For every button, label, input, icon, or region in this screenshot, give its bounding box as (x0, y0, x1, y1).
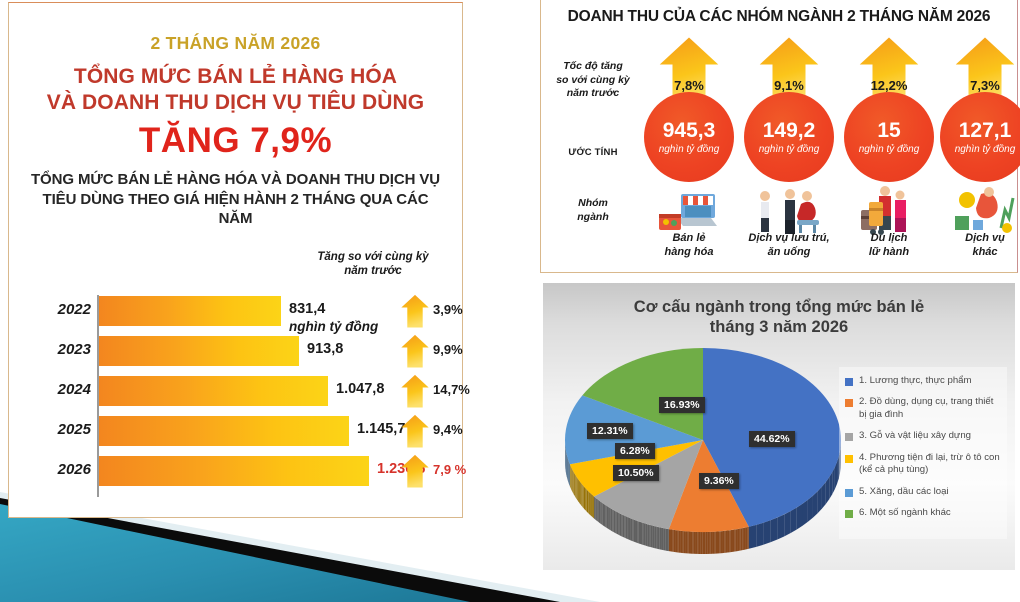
pie-slice-depth (690, 532, 692, 554)
pie-slice-depth (791, 508, 797, 534)
main-heading-line2: VÀ DOANH THU DỊCH VỤ TIÊU DÙNG (25, 90, 446, 116)
pie-slice-depth (818, 487, 822, 514)
group-value-unit: nghìn tỷ đồng (759, 144, 820, 155)
group-name-line2: hàng hóa (635, 246, 743, 260)
group-value: 127,1 (959, 120, 1012, 141)
pie-chart-graphic: 44.62%9.36%10.50%6.28%12.31%16.93% (553, 345, 853, 560)
pie-slice-depth (803, 500, 808, 526)
growth-column-note-line1: Tăng so với cùng kỳ (308, 250, 438, 264)
pie-slice-depth (707, 532, 709, 554)
pie-slice-depth (682, 531, 684, 553)
up-arrow-icon (401, 414, 429, 448)
up-arrow-icon (401, 374, 429, 408)
pie-slice-depth (607, 506, 608, 529)
row-label-growth-line2: so với cùng kỳ (547, 74, 639, 88)
pie-slice-depth (706, 532, 708, 554)
pie-data-label: 12.31% (587, 423, 633, 439)
pie-slice-depth (587, 490, 588, 513)
legend-label: 1. Lương thực, thực phẩm (859, 375, 972, 387)
growth-up-arrow-icon (401, 374, 429, 408)
bar-value-label: 913,8 (307, 341, 343, 357)
horizontal-bar-chart: 2022831,4nghìn tỷ đồng3,9%2023913,89,9%2… (29, 293, 449, 508)
row-label-group-line2: ngành (547, 211, 639, 225)
headline-growth-stat: TĂNG 7,9% (25, 123, 446, 158)
pie-slice-depth (584, 486, 585, 509)
chart-subtitle: TỔNG MỨC BÁN LẺ HÀNG HÓA VÀ DOANH THU DỊ… (25, 170, 446, 229)
growth-column-note-line2: năm trước (308, 264, 438, 278)
pie-slice-depth (660, 527, 662, 549)
legend-item[interactable]: 1. Lương thực, thực phẩm (845, 375, 1001, 387)
group-value: 945,3 (663, 120, 716, 141)
group-value-unit: nghìn tỷ đồng (659, 144, 720, 155)
bar-chart-row: 20251.145,79,4% (29, 413, 449, 453)
pie-slice-depth (629, 518, 631, 541)
pie-data-label: 9.36% (699, 473, 739, 489)
legend-color-swatch (845, 510, 853, 518)
group-illustration (855, 184, 923, 238)
pie-slice-depth (592, 495, 593, 518)
pie-slice-depth (663, 528, 665, 550)
group-illustration (951, 184, 1019, 238)
group-value-unit: nghìn tỷ đồng (955, 144, 1016, 155)
group-name-line1: Dịch vụ (931, 232, 1020, 246)
bar (99, 416, 349, 446)
pie-slice-depth (658, 527, 660, 549)
pie-slice-depth (583, 485, 584, 508)
group-name-line2: ăn uống (735, 246, 843, 260)
group-value-circle: 945,3nghìn tỷ đồng (644, 92, 734, 182)
pie-slice-depth (747, 527, 749, 549)
group-value: 149,2 (763, 120, 816, 141)
pie-slice-depth (581, 483, 582, 506)
group-name-line1: Bán lẻ (635, 232, 743, 246)
legend-item[interactable]: 2. Đồ dùng, dụng cụ, trang thiết bị gia … (845, 396, 1001, 421)
pie-slice-depth (637, 521, 639, 544)
pie-slice-depth (599, 500, 600, 523)
pie-slice-depth (737, 529, 739, 551)
legend-label: 5. Xăng, dầu các loại (859, 486, 949, 498)
pie-slice-depth (624, 516, 626, 539)
pie-slice-depth (586, 489, 587, 512)
main-heading: TỔNG MỨC BÁN LẺ HÀNG HÓA VÀ DOANH THU DỊ… (25, 64, 446, 115)
row-label-group-line1: Nhóm (547, 197, 639, 211)
pie-slice-depth (670, 529, 672, 551)
bar-chart-row: 2022831,4nghìn tỷ đồng3,9% (29, 293, 449, 333)
pie-slice-depth (584, 487, 585, 510)
pie-slice-depth (598, 499, 599, 522)
pie-slice-depth (582, 484, 583, 507)
pie-slice-depth (733, 530, 735, 552)
growth-percent-label: 9,9% (433, 342, 463, 357)
pie-slice-depth (623, 515, 625, 538)
pie-slice-depth (627, 517, 629, 540)
pie-slice-depth (621, 514, 623, 537)
pie-slice-depth (594, 496, 595, 519)
bar-year-label: 2025 (29, 421, 91, 438)
pie-slice-depth (699, 532, 701, 554)
growth-up-arrow-icon (401, 334, 429, 368)
group-growth-percent: 7,3% (937, 78, 1020, 93)
pie-slice-depth (591, 494, 592, 517)
legend-color-swatch (845, 399, 853, 407)
industry-revenue-panel: DOANH THU CỦA CÁC NHÓM NGÀNH 2 THÁNG NĂM… (540, 0, 1018, 273)
group-name-label: Dịch vụkhác (931, 232, 1020, 260)
pie-slice-depth (723, 531, 725, 553)
legend-label: 6. Một số ngành khác (859, 507, 951, 519)
pie-slice-depth (771, 517, 778, 542)
restaurant-dining-icon (755, 184, 823, 238)
pie-slice-depth (687, 531, 689, 553)
growth-up-arrow-icon (401, 454, 429, 488)
pie-slice-depth (679, 531, 681, 553)
main-heading-line1: TỔNG MỨC BÁN LẺ HÀNG HÓA (25, 64, 446, 90)
legend-item[interactable]: 4. Phương tiện đi lại, trừ ô tô con (kể … (845, 452, 1001, 477)
legend-item[interactable]: 3. Gỗ và vật liệu xây dựng (845, 430, 1001, 442)
pie-slice-depth (579, 480, 580, 503)
pie-slice-depth (808, 496, 813, 522)
bar (99, 456, 369, 486)
pie-chart-panel: Cơ cấu ngành trong tổng mức bán lẻ tháng… (543, 283, 1015, 570)
pie-slice-depth (620, 513, 622, 536)
pie-slice-depth (582, 484, 583, 507)
growth-up-arrow-icon (401, 414, 429, 448)
pie-slice-depth (696, 532, 698, 554)
pie-slice-depth (667, 529, 669, 551)
pie-slice-depth (716, 531, 718, 553)
bar (99, 336, 299, 366)
bar-chart-row: 20241.047,814,7% (29, 373, 449, 413)
pie-slice-depth (587, 490, 588, 513)
growth-percent-label: 7,9 % (433, 462, 466, 477)
group-name-line1: Du lịch (835, 232, 943, 246)
row-label-industry-group: Nhóm ngành (547, 197, 639, 224)
pie-slice-depth (595, 497, 596, 520)
pie-slice-depth (797, 504, 803, 530)
row-label-growth-rate: Tốc độ tăng so với cùng kỳ năm trước (547, 60, 639, 101)
row-label-growth-line3: năm trước (547, 87, 639, 101)
pie-slice-depth (635, 520, 637, 543)
pie-slice-depth (654, 526, 656, 548)
group-growth-percent: 12,2% (841, 78, 937, 93)
pie-slice-depth (729, 530, 731, 552)
pie-slice-depth (631, 518, 633, 541)
up-arrow-icon (401, 454, 429, 488)
pie-slice-depth (588, 491, 589, 514)
bar (99, 296, 281, 326)
group-name-line2: khác (931, 246, 1020, 260)
pie-slice-depth (646, 524, 648, 547)
pie-slice-depth (649, 525, 651, 547)
growth-percent-label: 9,4% (433, 422, 463, 437)
pie-slice-depth (680, 531, 682, 553)
pie-slice-depth (632, 519, 634, 542)
pie-slice-depth (569, 463, 570, 486)
pie-slice-depth (701, 532, 703, 554)
pie-slice-depth (741, 528, 743, 550)
pie-slice-depth (669, 529, 671, 551)
group-value-circle: 15nghìn tỷ đồng (844, 92, 934, 182)
pie-slice-depth (601, 502, 602, 525)
pie-slice-depth (626, 516, 628, 539)
pie-slice-depth (736, 529, 738, 551)
pie-slice-depth (618, 513, 620, 536)
pie-slice-depth (580, 481, 581, 504)
industry-panel-title: DOANH THU CỦA CÁC NHÓM NGÀNH 2 THÁNG NĂM… (541, 8, 1017, 26)
retail-store-icon (655, 184, 723, 238)
period-kicker: 2 THÁNG NĂM 2026 (25, 33, 446, 54)
pie-chart-title-line1: Cơ cấu ngành trong tổng mức bán lẻ (543, 297, 1015, 317)
pie-slice-depth (756, 523, 763, 547)
bar-value-label: 1.047,8 (336, 381, 384, 397)
pie-data-label: 44.62% (749, 431, 795, 447)
bar-unit-label: nghìn tỷ đồng (289, 319, 378, 334)
group-value-unit: nghìn tỷ đồng (859, 144, 920, 155)
pie-slice-depth (641, 522, 643, 545)
growth-column-note: Tăng so với cùng kỳ năm trước (308, 250, 438, 279)
pie-slice-depth (704, 532, 706, 554)
pie-slice-depth (605, 505, 606, 528)
pie-slice-depth (608, 507, 609, 530)
other-services-icon (951, 184, 1019, 238)
pie-slice-depth (586, 488, 587, 511)
row-label-growth-line1: Tốc độ tăng (547, 60, 639, 74)
pie-slice-depth (585, 488, 586, 511)
legend-color-swatch (845, 489, 853, 497)
chart-subtitle-line2: TIÊU DÙNG THEO GIÁ HIỆN HÀNH 2 THÁNG QUA… (25, 190, 446, 229)
pie-slice-depth (589, 492, 590, 515)
chart-subtitle-line1: TỔNG MỨC BÁN LẺ HÀNG HÓA VÀ DOANH THU DỊ… (25, 170, 446, 190)
growth-percent-label: 3,9% (433, 302, 463, 317)
pie-svg (553, 345, 853, 560)
pie-slice-depth (589, 492, 590, 515)
pie-slice-depth (656, 527, 658, 549)
group-name-line1: Dịch vụ lưu trú, (735, 232, 843, 246)
pie-slice-depth (697, 532, 699, 554)
group-name-line2: lữ hành (835, 246, 943, 260)
pie-slice-depth (642, 523, 644, 546)
bar-chart-row: 20261.236,67,9 % (29, 453, 449, 493)
group-value-circle: 149,2nghìn tỷ đồng (744, 92, 834, 182)
pie-slice-depth (689, 532, 691, 554)
left-infographic-panel: 2 THÁNG NĂM 2026 TỔNG MỨC BÁN LẺ HÀNG HÓ… (8, 2, 463, 518)
pie-slice-depth (644, 523, 646, 546)
pie-slice-depth (764, 520, 771, 545)
pie-slice-depth (728, 530, 730, 552)
pie-slice-depth (651, 525, 653, 547)
pie-slice-depth (694, 532, 696, 554)
pie-slice-depth (672, 530, 674, 552)
legend-label: 2. Đồ dùng, dụng cụ, trang thiết bị gia … (859, 396, 1001, 421)
pie-slice-depth (590, 493, 591, 516)
pie-slice-depth (591, 493, 592, 516)
pie-slice-depth (684, 531, 686, 553)
pie-slice-depth (692, 532, 694, 554)
legend-color-swatch (845, 455, 853, 463)
row-label-estimate: ƯỚC TÍNH (547, 147, 639, 159)
group-name-label: Du lịchlữ hành (835, 232, 943, 260)
group-name-label: Bán lẻhàng hóa (635, 232, 743, 260)
legend-item[interactable]: 5. Xăng, dầu các loại (845, 486, 1001, 498)
pie-slice-depth (712, 532, 714, 554)
pie-slice-depth (746, 527, 748, 549)
pie-slice-depth (665, 528, 667, 550)
bar-value-label: 831,4 (289, 301, 325, 317)
pie-slice-depth (813, 491, 818, 517)
bar-chart-row: 2023913,89,9% (29, 333, 449, 373)
pie-slice-depth (612, 509, 613, 532)
pie-slice-depth (583, 486, 584, 509)
bar-value-label: 1.145,7 (357, 421, 405, 437)
pie-slice-depth (603, 503, 604, 526)
bar-year-label: 2022 (29, 301, 91, 318)
pie-slice-depth (744, 528, 746, 550)
pie-slice-depth (617, 512, 618, 535)
pie-slice-depth (717, 531, 719, 553)
legend-label: 3. Gỗ và vật liệu xây dựng (859, 430, 971, 442)
pie-slice-depth (749, 525, 757, 549)
pie-slice-depth (615, 511, 616, 534)
pie-slice-depth (711, 532, 713, 554)
group-illustration (755, 184, 823, 238)
group-value: 15 (877, 120, 900, 141)
pie-slice-depth (647, 524, 649, 547)
pie-slice-depth (662, 528, 664, 550)
pie-slice-depth (580, 482, 581, 505)
bar-year-label: 2024 (29, 381, 91, 398)
pie-slice-depth (731, 530, 733, 552)
group-growth-percent: 9,1% (741, 78, 837, 93)
pie-slice-depth (653, 526, 655, 548)
pie-slice-depth (611, 508, 612, 531)
pie-slice-depth (581, 482, 582, 505)
infographic-canvas: 2 THÁNG NĂM 2026 TỔNG MỨC BÁN LẺ HÀNG HÓ… (0, 0, 1020, 602)
pie-slice-depth (719, 531, 721, 553)
pie-chart-legend: 1. Lương thực, thực phẩm2. Đồ dùng, dụng… (839, 367, 1007, 539)
legend-label: 4. Phương tiện đi lại, trừ ô tô con (kể … (859, 452, 1001, 477)
pie-slice-depth (569, 461, 570, 484)
pie-chart-title: Cơ cấu ngành trong tổng mức bán lẻ tháng… (543, 283, 1015, 337)
pie-slice-depth (726, 531, 728, 553)
bar (99, 376, 328, 406)
pie-slice-depth (674, 530, 676, 552)
pie-slice-depth (609, 508, 610, 531)
group-value-circle: 127,1nghìn tỷ đồng (940, 92, 1020, 182)
pie-slice-depth (634, 520, 636, 543)
pie-slice-depth (709, 532, 711, 554)
pie-slice-depth (596, 498, 597, 521)
group-growth-percent: 7,8% (641, 78, 737, 93)
growth-up-arrow-icon (401, 294, 429, 328)
pie-chart-title-line2: tháng 3 năm 2026 (543, 317, 1015, 337)
group-name-label: Dịch vụ lưu trú,ăn uống (735, 232, 843, 260)
pie-slice-depth (724, 531, 726, 553)
pie-slice-depth (778, 514, 785, 539)
pie-data-label: 16.93% (659, 397, 705, 413)
legend-item[interactable]: 6. Một số ngành khác (845, 507, 1001, 519)
pie-slice-depth (739, 528, 741, 550)
pie-slice-depth (685, 531, 687, 553)
group-illustration (655, 184, 723, 238)
pie-slice-depth (702, 532, 704, 554)
bar-year-label: 2026 (29, 461, 91, 478)
legend-color-swatch (845, 433, 853, 441)
pie-slice-depth (677, 530, 679, 552)
pie-slice-depth (734, 529, 736, 551)
pie-slice-depth (600, 501, 601, 524)
pie-slice-depth (614, 510, 615, 533)
pie-slice-depth (721, 531, 723, 553)
pie-slice-depth (593, 495, 594, 518)
pie-slice-depth (593, 496, 594, 519)
pie-slice-depth (784, 511, 790, 536)
pie-slice-depth (714, 532, 716, 554)
pie-slice-depth (604, 504, 605, 527)
pie-data-label: 6.28% (615, 443, 655, 459)
travel-luggage-icon (855, 184, 923, 238)
bar-year-label: 2023 (29, 341, 91, 358)
pie-data-label: 10.50% (613, 465, 659, 481)
pie-slice-depth (675, 530, 677, 552)
pie-slice-depth (639, 521, 641, 544)
pie-slice-depth (742, 528, 744, 550)
legend-color-swatch (845, 378, 853, 386)
up-arrow-icon (401, 334, 429, 368)
growth-percent-label: 14,7% (433, 382, 470, 397)
up-arrow-icon (401, 294, 429, 328)
